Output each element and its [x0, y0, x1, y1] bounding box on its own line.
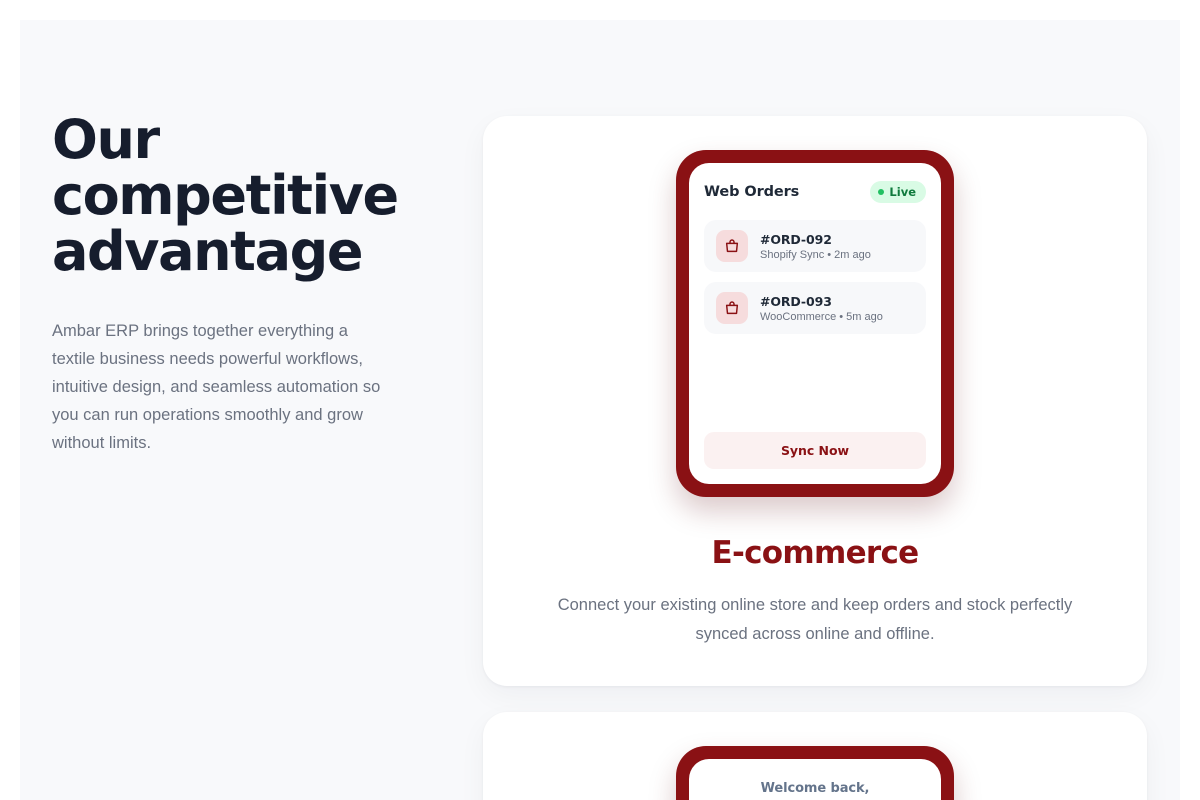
order-id: #ORD-092	[760, 232, 871, 247]
spacer	[704, 334, 926, 432]
hero-text-column: Our competitive advantage Ambar ERP brin…	[52, 112, 432, 457]
shopping-bag-icon	[716, 230, 748, 262]
order-meta: WooCommerce • 5m ago	[760, 311, 883, 323]
list-item[interactable]: #ORD-093 WooCommerce • 5m ago	[704, 282, 926, 334]
feature-card-welcome[interactable]: Welcome back,	[483, 712, 1147, 800]
phone-screen: Welcome back,	[689, 759, 941, 800]
order-meta: Shopify Sync • 2m ago	[760, 249, 871, 261]
phone-mockup: Welcome back,	[676, 746, 954, 800]
feature-card-column: Web Orders Live	[483, 116, 1147, 800]
status-badge-label: Live	[889, 185, 916, 199]
shopping-bag-icon	[716, 292, 748, 324]
phone-header: Web Orders Live	[704, 181, 926, 203]
phone-mockup: Web Orders Live	[676, 150, 954, 497]
page-background: Our competitive advantage Ambar ERP brin…	[20, 20, 1180, 800]
feature-card-ecommerce[interactable]: Web Orders Live	[483, 116, 1147, 686]
phone-screen: Web Orders Live	[689, 163, 941, 484]
sync-now-button[interactable]: Sync Now	[704, 432, 926, 469]
card-description: Connect your existing online store and k…	[532, 591, 1098, 649]
welcome-greeting: Welcome back,	[761, 781, 870, 796]
status-badge: Live	[870, 181, 926, 203]
phone-header-title: Web Orders	[704, 184, 799, 200]
card-title: E-commerce	[511, 535, 1119, 571]
list-item[interactable]: #ORD-092 Shopify Sync • 2m ago	[704, 220, 926, 272]
page-title: Our competitive advantage	[52, 112, 432, 280]
order-id: #ORD-093	[760, 294, 883, 309]
status-dot-icon	[878, 189, 884, 195]
order-text: #ORD-092 Shopify Sync • 2m ago	[760, 232, 871, 261]
card-caption: E-commerce Connect your existing online …	[511, 535, 1119, 649]
hero-description: Ambar ERP brings together everything a t…	[52, 317, 388, 457]
order-text: #ORD-093 WooCommerce • 5m ago	[760, 294, 883, 323]
order-list: #ORD-092 Shopify Sync • 2m ago	[704, 220, 926, 334]
